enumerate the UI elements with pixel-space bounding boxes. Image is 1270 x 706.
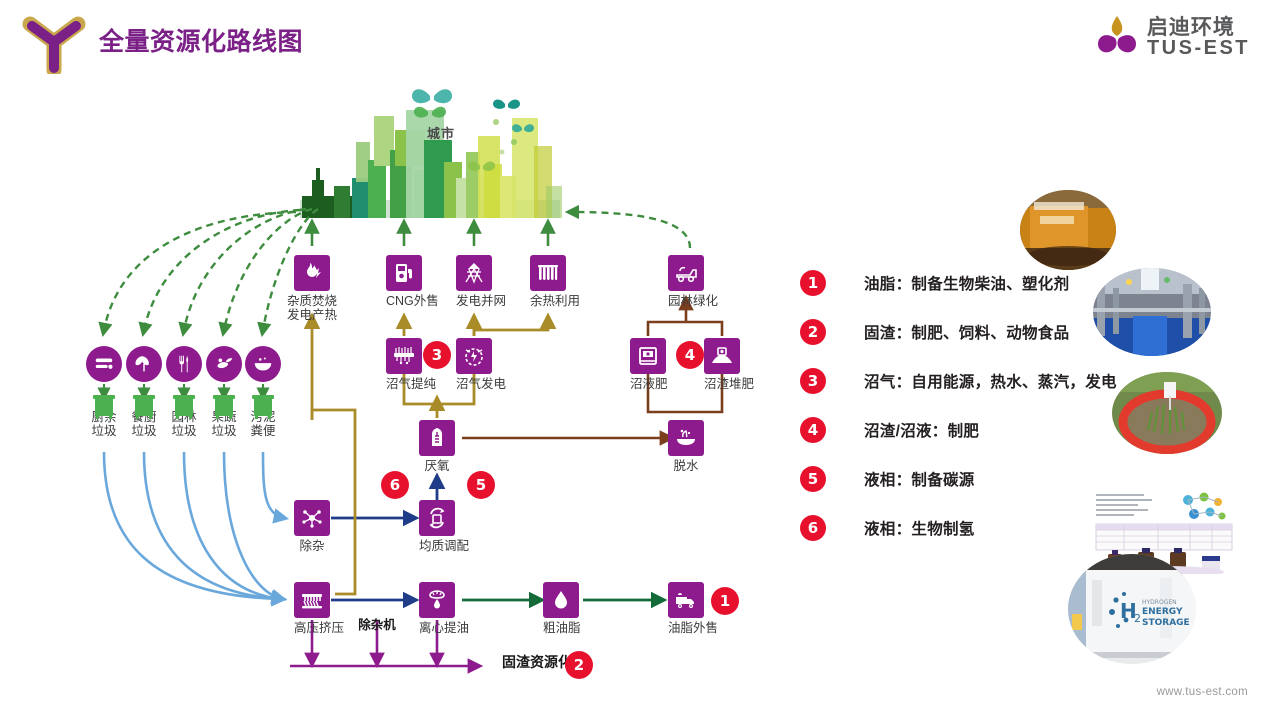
badge-6: 6 (382, 472, 408, 498)
legend-item-2: 2 固渣：制肥、饲料、动物食品 (800, 307, 1120, 356)
dewatering-icon (668, 420, 704, 456)
hydrogen-storage-photo: H 2 HYDROGEN ENERGY STORAGE (1068, 554, 1196, 664)
source-label-3: 果蔬 (206, 410, 242, 424)
output-node-landscaping[interactable]: 园林绿化 (668, 255, 704, 308)
output-label-landscaping: 园林绿化 (668, 294, 704, 308)
badge-4: 4 (677, 342, 703, 368)
process-node-impurity-removal[interactable]: 除杂 (294, 500, 330, 553)
source-label-0b: 垃圾 (86, 424, 122, 438)
legend-text-1: 油脂：制备生物柴油、塑化剂 (864, 272, 1069, 294)
process-label-crude-oil: 粗油脂 (543, 621, 579, 635)
process-label-oil-extraction: 离心提油 (419, 621, 455, 635)
output-label-grid: 发电并网 (456, 294, 492, 308)
legend-text-2: 固渣：制肥、饲料、动物食品 (864, 321, 1069, 343)
process-node-homogenizing[interactable]: 均质调配 (419, 500, 455, 553)
source-node-1[interactable]: 餐厨 垃圾 (126, 346, 162, 439)
page-title: 全量资源化路线图 (99, 22, 303, 58)
oil-sale-truck-icon (668, 582, 704, 618)
badge-2: 2 (566, 652, 592, 678)
source-label-1: 餐厨 (126, 410, 162, 424)
process-label-anaerobic: 厌氧 (419, 459, 455, 473)
biogas-purification-icon (386, 338, 422, 374)
process-label-dewatering: 脱水 (668, 459, 704, 473)
svg-text:2: 2 (1134, 612, 1141, 625)
legend-num-6: 6 (800, 515, 826, 541)
biogas-node-purification[interactable]: 沼气提纯 (386, 338, 422, 391)
legend-num-2: 2 (800, 319, 826, 345)
legend-text-5: 液相：制备碳源 (864, 468, 975, 490)
source-label-1b: 垃圾 (126, 424, 162, 438)
output-label-waste-heat: 余热利用 (530, 294, 566, 308)
svg-text:STORAGE: STORAGE (1142, 618, 1190, 628)
source-node-4[interactable]: 污泥 粪便 (245, 346, 281, 439)
process-node-press[interactable]: 高压挤压 (294, 582, 330, 635)
power-grid-icon (456, 255, 492, 291)
legend-text-6: 液相：生物制氢 (864, 517, 975, 539)
garden-waste-icon (166, 346, 202, 382)
fertilizer-node-liquid[interactable]: 沼液肥 (630, 338, 666, 391)
source-label-4b: 粪便 (245, 424, 281, 438)
output-node-grid[interactable]: 发电并网 (456, 255, 492, 308)
badge-5: 5 (468, 472, 494, 498)
planting-bed-photo (1112, 372, 1222, 454)
brand-name-cn: 启迪环境 (1147, 17, 1250, 38)
output-node-waste-heat[interactable]: 余热利用 (530, 255, 566, 308)
output-label-incineration-2: 发电产热 (274, 308, 350, 322)
biogas-label-power: 沼气发电 (456, 377, 492, 391)
process-label-impurity-removal: 除杂 (294, 539, 330, 553)
legend-item-4: 4 沼渣/沼液：制肥 (800, 405, 1120, 454)
process-label-oil-sale: 油脂外售 (668, 621, 704, 635)
kitchen-waste-icon (126, 346, 162, 382)
fruit-veg-waste-icon (206, 346, 242, 382)
legend-num-3: 3 (800, 368, 826, 394)
badge-1: 1 (712, 588, 738, 614)
legend-text-4: 沼渣/沼液：制肥 (864, 419, 979, 441)
landscaping-truck-icon (668, 255, 704, 291)
y-shape-logo (22, 12, 86, 74)
legend-item-5: 5 液相：制备碳源 (800, 454, 1120, 503)
centrifugal-oil-extraction-icon (419, 582, 455, 618)
svg-text:HYDROGEN: HYDROGEN (1142, 599, 1177, 606)
compost-icon (704, 338, 740, 374)
fertilizer-label-compost: 沼渣堆肥 (704, 377, 740, 391)
biogas-node-power[interactable]: 沼气发电 (456, 338, 492, 391)
incineration-flame-icon (294, 255, 330, 291)
biogas-power-icon (456, 338, 492, 374)
tus-est-flower-logo (1096, 14, 1138, 60)
process-node-decontaminator[interactable]: 除杂机 (352, 618, 402, 632)
output-node-cng[interactable]: CNG外售 (386, 255, 422, 308)
svg-text:ENERGY: ENERGY (1142, 607, 1183, 617)
source-node-2[interactable]: 园林 垃圾 (166, 346, 202, 439)
process-node-oil-extraction[interactable]: 离心提油 (419, 582, 455, 635)
output-node-incineration[interactable]: 杂质焚烧 发电产热 (294, 255, 330, 323)
food-scraps-icon (86, 346, 122, 382)
radiator-heat-icon (530, 255, 566, 291)
liquid-fertilizer-icon (630, 338, 666, 374)
oil-beaker-photo (1020, 190, 1116, 270)
badge-3: 3 (424, 342, 450, 368)
legend-item-6: 6 液相：生物制氢 (800, 503, 1120, 552)
process-label-press: 高压挤压 (294, 621, 330, 635)
brand-logo: 启迪环境 TUS-EST (1096, 14, 1250, 60)
impurity-removal-icon (294, 500, 330, 536)
process-node-dewatering[interactable]: 脱水 (668, 420, 704, 473)
legend-num-4: 4 (800, 417, 826, 443)
source-label-3b: 垃圾 (206, 424, 242, 438)
source-label-0: 厨余 (86, 410, 122, 424)
source-node-0[interactable]: 厨余 垃圾 (86, 346, 122, 439)
factory-interior-photo (1093, 268, 1211, 356)
homogenizing-icon (419, 500, 455, 536)
legend-item-3: 3 沼气：自用能源，热水、蒸汽，发电 (800, 356, 1120, 405)
legend-list: 1 油脂：制备生物柴油、塑化剂 2 固渣：制肥、饲料、动物食品 3 沼气：自用能… (800, 258, 1120, 552)
brand-name-en: TUS-EST (1147, 38, 1250, 58)
output-label-cng: CNG外售 (386, 294, 422, 308)
process-node-crude-oil[interactable]: 粗油脂 (543, 582, 579, 635)
fertilizer-label-liquid: 沼液肥 (630, 377, 666, 391)
source-node-3[interactable]: 果蔬 垃圾 (206, 346, 242, 439)
source-label-4: 污泥 (245, 410, 281, 424)
process-label-decontaminator: 除杂机 (352, 618, 402, 632)
biogas-label-purification: 沼气提纯 (386, 377, 422, 391)
anaerobic-digester-icon (419, 420, 455, 456)
source-label-2b: 垃圾 (166, 424, 202, 438)
legend-num-5: 5 (800, 466, 826, 492)
cng-pump-icon (386, 255, 422, 291)
process-label-homogenizing: 均质调配 (419, 539, 455, 553)
output-label-incineration-1: 杂质焚烧 (274, 294, 350, 308)
footer-url: www.tus-est.com (1157, 686, 1248, 698)
legend-text-3: 沼气：自用能源，热水、蒸汽，发电 (864, 370, 1117, 392)
sludge-manure-icon (245, 346, 281, 382)
slide-canvas: 全量资源化路线图 启迪环境 TUS-EST (0, 0, 1270, 706)
high-pressure-press-icon (294, 582, 330, 618)
legend-num-1: 1 (800, 270, 826, 296)
process-node-oil-sale[interactable]: 油脂外售 (668, 582, 704, 635)
process-node-anaerobic[interactable]: 厌氧 (419, 420, 455, 473)
fertilizer-node-compost[interactable]: 沼渣堆肥 (704, 338, 740, 391)
city-label: 城市 (427, 123, 455, 142)
crude-oil-drop-icon (543, 582, 579, 618)
source-label-2: 园林 (166, 410, 202, 424)
